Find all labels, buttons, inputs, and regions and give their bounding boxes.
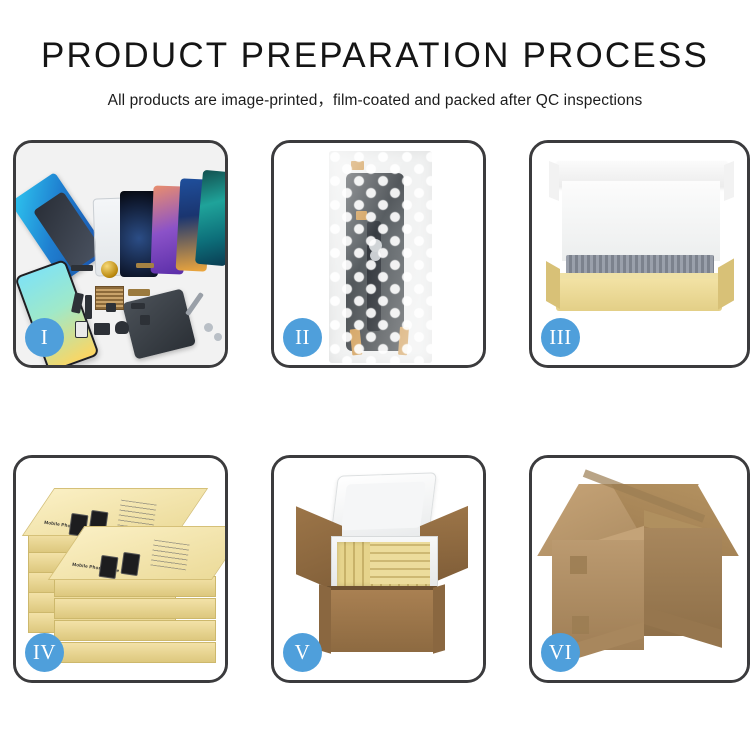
tweezers-icon (185, 292, 204, 316)
step-badge-2: II (283, 318, 322, 357)
process-steps-grid: I II (13, 140, 743, 683)
spare-part-gold-strip (128, 289, 150, 296)
page-subtitle: All products are image-printed，film-coat… (0, 88, 750, 110)
screw-icon-2 (214, 333, 222, 341)
step-panel-5[interactable]: V (271, 455, 486, 683)
carton-front-panel (327, 590, 437, 652)
spare-part-sim-tray (75, 321, 88, 338)
spare-part-module (94, 323, 110, 335)
foam-sheet-back (562, 181, 720, 261)
carton-flap-tab-2 (572, 616, 589, 634)
step-panel-4[interactable]: Mobile Phone Spare Parts Mobile Phone Sp… (13, 455, 228, 683)
box-lid-left (549, 161, 559, 201)
step-badge-1: I (25, 318, 64, 357)
page-title: PRODUCT PREPARATION PROCESS (0, 38, 750, 75)
phone-back-housing (122, 288, 196, 359)
box-front-panel (556, 279, 722, 311)
step-panel-2[interactable]: II (271, 140, 486, 368)
spare-part-misc (106, 303, 116, 312)
screw-icon-1 (204, 323, 213, 332)
box-lid-right (724, 161, 734, 201)
carton-left-side (319, 584, 331, 653)
step-panel-3[interactable]: III (529, 140, 750, 368)
carton-flap-tab-1 (570, 556, 587, 574)
stacked-box (54, 642, 216, 663)
spare-part-small-chip (131, 303, 145, 309)
stacked-box (54, 598, 216, 619)
spare-part-strip (85, 295, 92, 319)
page-header: PRODUCT PREPARATION PROCESS All products… (0, 0, 750, 110)
step-panel-1[interactable]: I (13, 140, 228, 368)
step-badge-4: IV (25, 633, 64, 672)
box-label-chip-front-2 (121, 552, 141, 576)
vibration-motor-icon (101, 261, 118, 278)
box-label-chip-front-1 (99, 555, 119, 579)
box-right-side (718, 258, 734, 309)
spare-part-connector (71, 265, 93, 271)
spare-part-speaker (115, 321, 129, 334)
stacked-box (54, 620, 216, 641)
spare-part-gold-flex (136, 263, 154, 268)
bag-gloss (329, 151, 432, 363)
inner-boxes-row-2 (370, 542, 430, 584)
step-panel-6[interactable]: VI (529, 455, 750, 683)
box-label-lines-front (150, 540, 189, 571)
box-left-side (546, 261, 560, 309)
step-badge-5: V (283, 633, 322, 672)
step-badge-3: III (541, 318, 580, 357)
spare-part-button (140, 315, 150, 325)
carton-right-side (433, 584, 445, 653)
step-badge-6: VI (541, 633, 580, 672)
bubble-bag (329, 151, 432, 363)
